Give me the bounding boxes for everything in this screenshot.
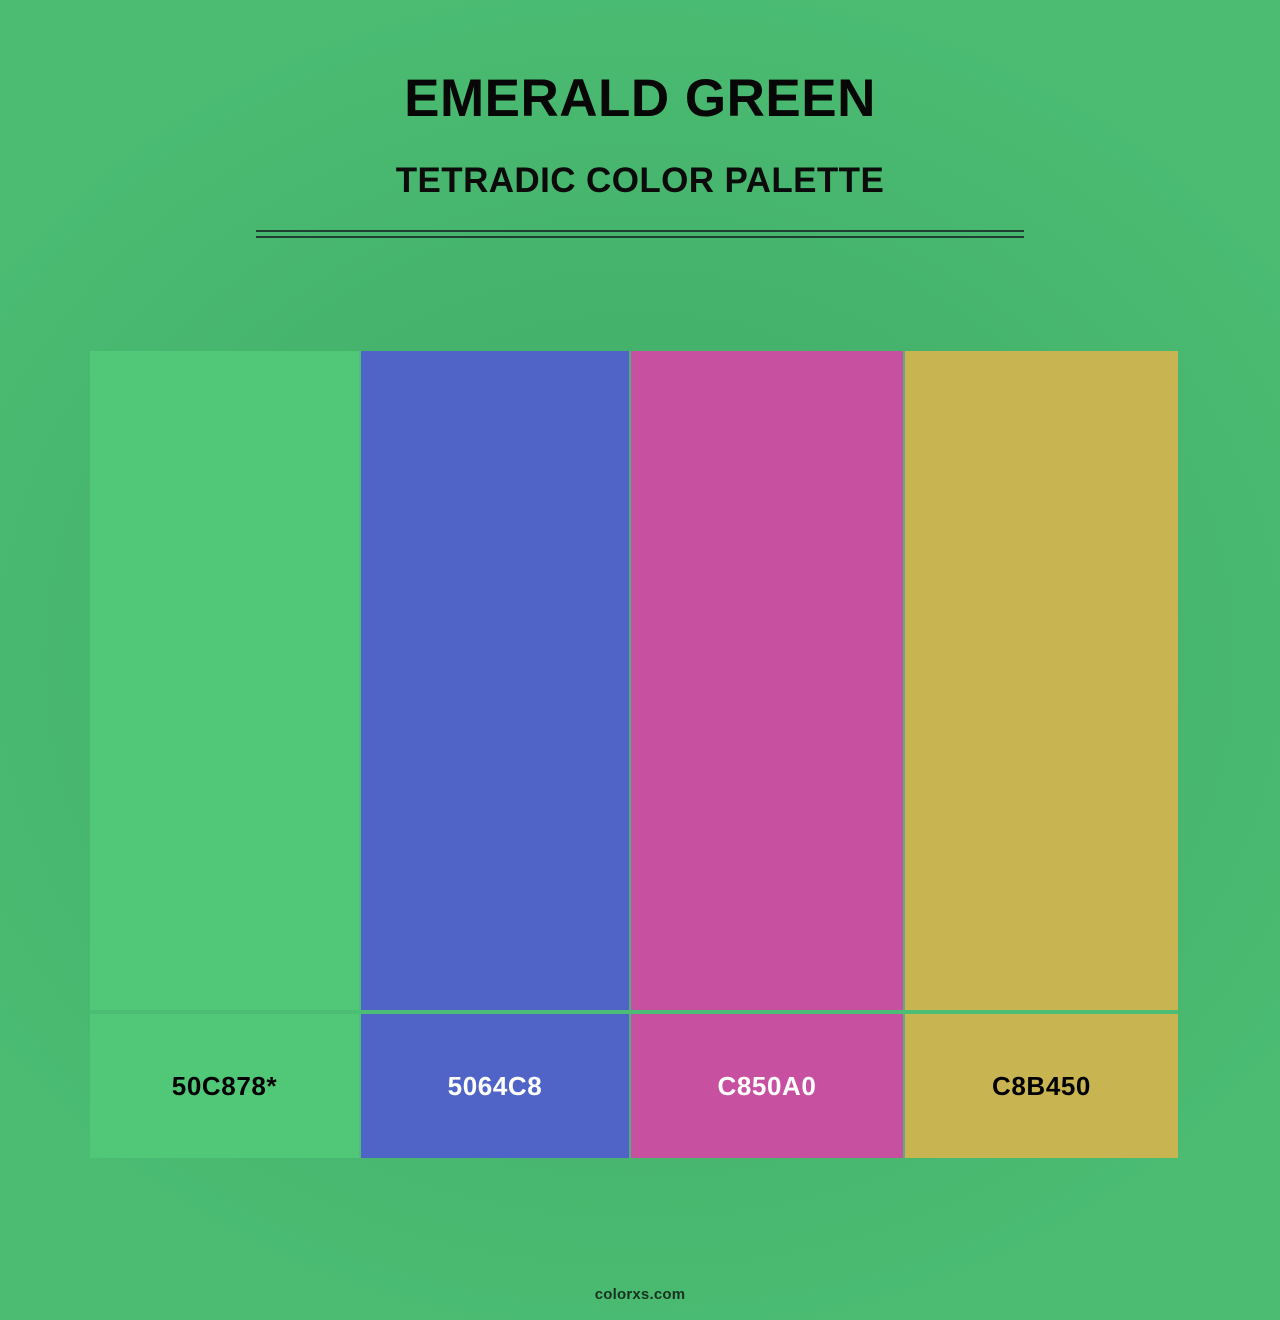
site-credit: colorxs.com (0, 1286, 1280, 1303)
label-row: 50C878* 5064C8 C850A0 C8B450 (90, 1010, 1178, 1158)
color-label-cell[interactable]: 50C878* (90, 1014, 361, 1158)
hex-code-label: C850A0 (718, 1071, 817, 1102)
color-label-cell[interactable]: C8B450 (905, 1014, 1178, 1158)
color-palette: 50C878* 5064C8 C850A0 C8B450 (90, 351, 1178, 1158)
hex-code-label: 5064C8 (448, 1071, 543, 1102)
swatch-row (90, 351, 1178, 1010)
divider-line-top (256, 230, 1024, 232)
page-subtitle: TETRADIC COLOR PALETTE (0, 163, 1280, 198)
color-swatch[interactable] (905, 351, 1178, 1010)
divider-line-bottom (256, 236, 1024, 238)
color-label-cell[interactable]: 5064C8 (361, 1014, 631, 1158)
page-title: EMERALD GREEN (0, 72, 1280, 125)
color-swatch[interactable] (631, 351, 905, 1010)
hex-code-label: C8B450 (992, 1071, 1091, 1102)
hex-code-label: 50C878* (172, 1071, 277, 1102)
header-divider (256, 230, 1024, 238)
color-swatch[interactable] (90, 351, 361, 1010)
color-label-cell[interactable]: C850A0 (631, 1014, 905, 1158)
color-swatch[interactable] (361, 351, 631, 1010)
page-header: EMERALD GREEN TETRADIC COLOR PALETTE (0, 0, 1280, 198)
palette-page: EMERALD GREEN TETRADIC COLOR PALETTE 50C… (0, 0, 1280, 1320)
